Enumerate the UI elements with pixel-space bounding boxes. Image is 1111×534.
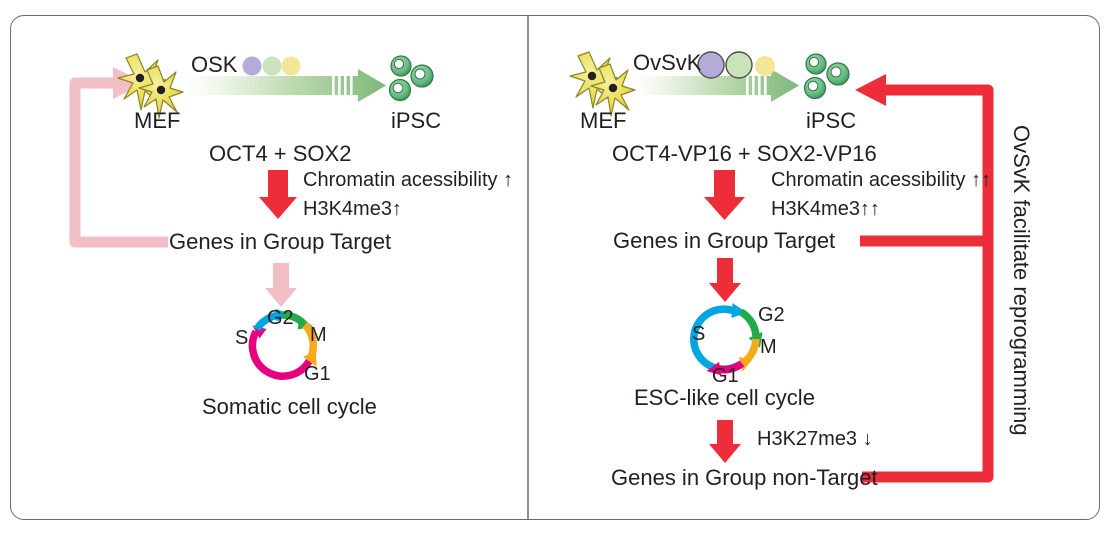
feedback-caption: OvSvK facilitate reprogramming bbox=[1008, 125, 1034, 436]
down-arrow-cellcycle-right bbox=[709, 258, 741, 302]
target-label-left: Genes in Group Target bbox=[169, 231, 391, 253]
ipsc-cell-icon-right bbox=[805, 54, 850, 99]
mef-label-right: MEF bbox=[580, 110, 626, 132]
osk-factor-dots bbox=[243, 57, 301, 76]
graphics-layer bbox=[0, 0, 1111, 534]
ipsc-label-right: iPSC bbox=[806, 110, 856, 132]
mef-label-left: MEF bbox=[134, 110, 180, 132]
phase-label-s-left: S bbox=[235, 328, 248, 348]
phase-label-g1-left: G1 bbox=[304, 364, 331, 384]
transgene-label-right: OCT4-VP16 + SOX2-VP16 bbox=[612, 143, 877, 165]
effect-chromatin-right: Chromatin acessibility ↑↑ bbox=[771, 170, 991, 190]
phase-label-m-right: M bbox=[760, 337, 777, 357]
ipsc-label-left: iPSC bbox=[391, 110, 441, 132]
effect-chromatin-left: Chromatin acessibility ↑ bbox=[303, 170, 513, 190]
ipsc-cell-icon-left bbox=[390, 56, 434, 101]
effect-h3k4me3-right: H3K4me3↑↑ bbox=[771, 199, 880, 219]
ovsvk-factor-label: OvSvK bbox=[633, 52, 701, 74]
figure-canvas: OSK MEF iPSC OCT4 + SOX2 Chromatin acess… bbox=[0, 0, 1111, 534]
cycle-caption-right: ESC-like cell cycle bbox=[634, 387, 815, 409]
red-feedback-arrow bbox=[855, 74, 988, 477]
phase-label-s-right: S bbox=[692, 324, 705, 344]
transgene-label-left: OCT4 + SOX2 bbox=[209, 143, 351, 165]
down-arrow-oct4vp16-right bbox=[704, 170, 745, 220]
phase-label-g2-left: G2 bbox=[267, 308, 294, 328]
mef-cell-icon-right bbox=[570, 52, 635, 116]
target-label-right: Genes in Group Target bbox=[613, 230, 835, 252]
ovsvk-factor-dots bbox=[698, 52, 775, 78]
effect-h3k27me3: H3K27me3 ↓ bbox=[757, 429, 873, 449]
down-arrow-cellcycle-left bbox=[265, 263, 297, 307]
down-arrow-nontarget-right bbox=[709, 420, 741, 463]
phase-label-m-left: M bbox=[310, 325, 327, 345]
down-arrow-oct4sox2-left bbox=[259, 170, 297, 219]
phase-label-g2-right: G2 bbox=[758, 305, 785, 325]
phase-label-g1-right: G1 bbox=[712, 366, 739, 386]
osk-factor-label: OSK bbox=[191, 54, 237, 76]
nontarget-label: Genes in Group non-Target bbox=[611, 467, 878, 489]
effect-h3k4me3-left: H3K4me3↑ bbox=[303, 199, 402, 219]
cycle-caption-left: Somatic cell cycle bbox=[202, 396, 377, 418]
